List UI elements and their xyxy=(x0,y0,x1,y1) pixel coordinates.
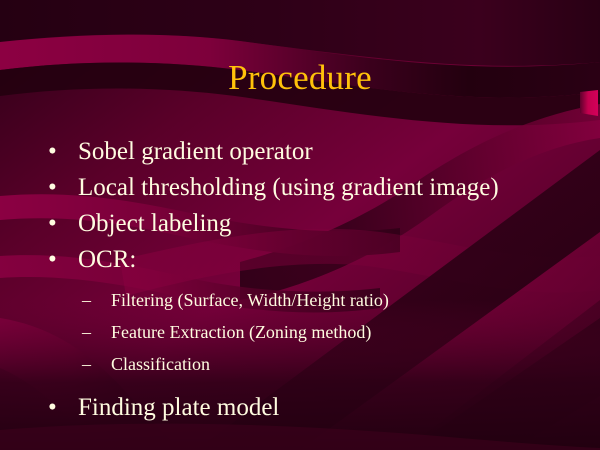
bullet-marker-icon: • xyxy=(48,134,57,170)
slide-content: Procedure • Sobel gradient operator • Lo… xyxy=(0,0,600,450)
bullet-item-sobel-gradient-operator: • Sobel gradient operator xyxy=(44,134,584,170)
bullet-item-ocr: • OCR: xyxy=(44,242,584,278)
subbullet-label: Classification xyxy=(111,354,210,374)
slide-title: Procedure xyxy=(0,57,600,99)
presentation-slide: Procedure • Sobel gradient operator • Lo… xyxy=(0,0,600,450)
bullet-marker-icon: • xyxy=(48,206,57,242)
bullet-label: Sobel gradient operator xyxy=(78,138,313,165)
bullet-label: Object labeling xyxy=(78,210,231,237)
bullet-marker-icon: • xyxy=(48,242,57,278)
subbullet-label: Filtering (Surface, Width/Height ratio) xyxy=(111,290,389,310)
bullet-marker-icon: • xyxy=(48,390,57,426)
bullet-label: OCR: xyxy=(78,246,136,273)
bullet-item-local-thresholding: • Local thresholding (using gradient ima… xyxy=(44,170,584,206)
subbullet-label: Feature Extraction (Zoning method) xyxy=(111,322,371,342)
bullet-marker-icon: • xyxy=(48,170,57,206)
bullet-item-object-labeling: • Object labeling xyxy=(44,206,584,242)
subbullet-item-filtering: – Filtering (Surface, Width/Height ratio… xyxy=(44,284,584,316)
subbullet-marker-icon: – xyxy=(82,348,91,380)
subbullet-item-classification: – Classification xyxy=(44,348,584,380)
bullet-label: Local thresholding (using gradient image… xyxy=(78,174,499,201)
bullet-list: • Sobel gradient operator • Local thresh… xyxy=(44,134,584,426)
list-spacer xyxy=(44,380,584,390)
subbullet-marker-icon: – xyxy=(82,284,91,316)
bullet-label: Finding plate model xyxy=(78,394,279,421)
subbullet-item-feature-extraction: – Feature Extraction (Zoning method) xyxy=(44,316,584,348)
bullet-item-finding-plate-model: • Finding plate model xyxy=(44,390,584,426)
subbullet-marker-icon: – xyxy=(82,316,91,348)
